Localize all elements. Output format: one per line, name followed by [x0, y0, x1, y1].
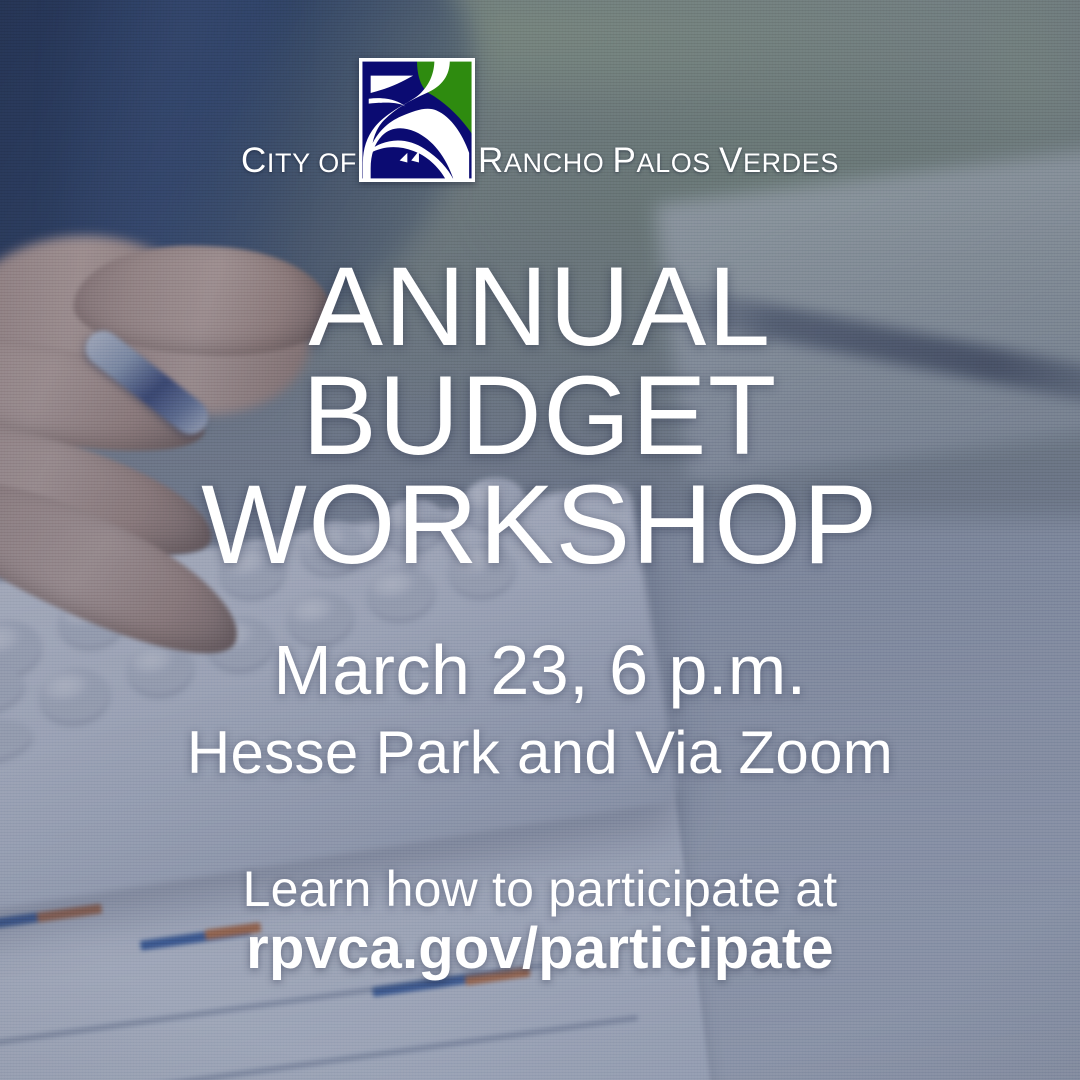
event-datetime: March 23, 6 p.m.	[0, 634, 1080, 707]
cta-prompt: Learn how to participate at	[0, 860, 1080, 918]
title-line-1: ANNUAL	[0, 252, 1080, 361]
flyer-content: CITY OF RANCHO PALOS VERDES ANNUAL	[0, 0, 1080, 1080]
budget-workshop-flyer: CITY OF RANCHO PALOS VERDES ANNUAL	[0, 0, 1080, 1080]
logo-text-rancho-palos-verdes: RANCHO PALOS VERDES	[478, 143, 839, 182]
logo-city-of-capital: C	[241, 141, 267, 180]
logo-text-city-of: CITY OF	[241, 143, 357, 182]
logo-palos-capital: P	[613, 141, 637, 180]
title-line-2: BUDGET	[0, 361, 1080, 470]
city-logo-lockup: CITY OF RANCHO PALOS VERDES	[0, 58, 1080, 182]
event-location: Hesse Park and Via Zoom	[0, 722, 1080, 784]
cta-url-link[interactable]: rpvca.gov/participate	[0, 915, 1080, 982]
logo-rancho-rest: ANCHO	[504, 148, 613, 178]
title-line-3: WORKSHOP	[0, 470, 1080, 579]
logo-verdes-rest: ERDES	[743, 148, 839, 178]
logo-verdes-capital: V	[719, 141, 743, 180]
rpv-peacock-logo-icon	[359, 58, 475, 182]
logo-rancho-capital: R	[478, 141, 504, 180]
logo-palos-rest: ALOS	[636, 148, 719, 178]
logo-city-of-rest: ITY OF	[267, 148, 357, 178]
page-title: ANNUAL BUDGET WORKSHOP	[0, 252, 1080, 580]
